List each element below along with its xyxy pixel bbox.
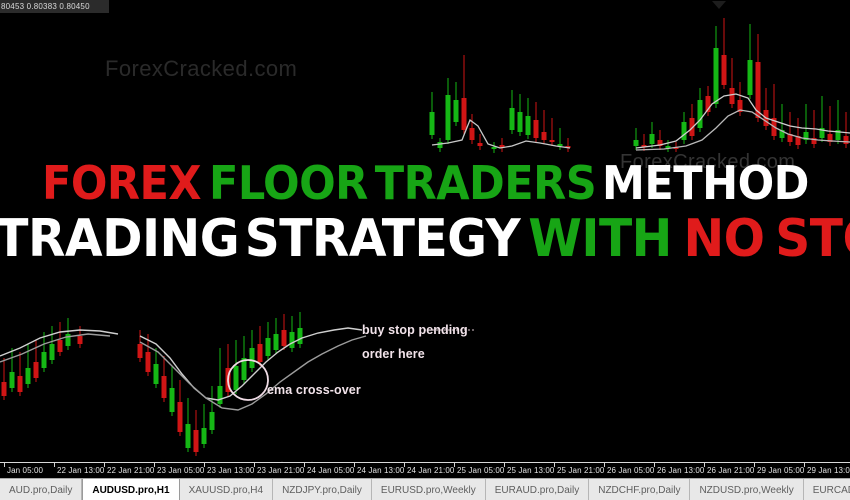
price-quote-strip: 80453 0.80383 0.80450	[0, 0, 109, 13]
chart-tab-nzdusd-pro-weekly[interactable]: NZDUSD.pro,Weekly	[690, 479, 803, 500]
time-axis-label: 29 Jan 13:00	[807, 466, 850, 475]
time-axis-label: 25 Jan 13:00	[507, 466, 554, 475]
time-axis-tick	[604, 463, 605, 467]
candle-body	[218, 386, 223, 404]
annotation-order-here: order here	[362, 347, 425, 361]
time-axis-label: 24 Jan 05:00	[307, 466, 354, 475]
candle-body	[438, 142, 443, 148]
headline-line-1: FOREX FLOOR TRADERS METHOD	[0, 160, 850, 206]
candle-body	[454, 100, 459, 122]
time-axis-tick	[104, 463, 105, 467]
time-axis-tick	[204, 463, 205, 467]
candle-body	[430, 112, 435, 135]
candle-body	[730, 88, 735, 104]
candle-body	[682, 122, 687, 140]
candle-body	[202, 428, 207, 444]
time-axis-tick	[504, 463, 505, 467]
chart-tab-bar[interactable]: AUD.pro,DailyAUDUSD.pro,H1XAUUSD.pro,H4N…	[0, 478, 850, 500]
time-axis-label: Jan 05:00	[7, 466, 43, 475]
time-axis-label: 23 Jan 21:00	[257, 466, 304, 475]
time-axis-label: 25 Jan 05:00	[457, 466, 504, 475]
time-axis-tick	[404, 463, 405, 467]
candle-body	[282, 330, 287, 346]
mt4-chart-screenshot: 80453 0.80383 0.80450 ForexCracked.com F…	[0, 0, 850, 500]
headline-word-forex: FOREX	[42, 160, 201, 206]
time-axis-tick	[554, 463, 555, 467]
time-axis-label: 23 Jan 13:00	[207, 466, 254, 475]
upper-ma-line-1	[432, 120, 570, 148]
candle-body	[446, 95, 451, 140]
candle-body	[298, 328, 303, 344]
time-axis-tick	[4, 463, 5, 467]
candle-body	[274, 334, 279, 350]
candle-body	[42, 352, 47, 368]
headline-overlay: FOREX FLOOR TRADERS METHOD TRADING STRAT…	[0, 160, 850, 265]
time-axis-tick	[254, 463, 255, 467]
time-axis[interactable]: Jan 05:0022 Jan 13:0022 Jan 21:0023 Jan …	[0, 462, 850, 479]
time-axis-label: 29 Jan 05:00	[757, 466, 804, 475]
headline-word-trading: TRADING	[0, 213, 239, 265]
chart-tab-eurcad-pro-h1[interactable]: EURCAD.pro,H1	[804, 479, 850, 500]
annotation-buy-stop: buy stop pending	[362, 323, 468, 337]
time-axis-tick	[154, 463, 155, 467]
candle-body	[650, 134, 655, 144]
candle-body	[138, 344, 143, 358]
candle-body	[518, 112, 523, 132]
candle-body	[510, 108, 515, 130]
chart-tab-aud-pro-daily[interactable]: AUD.pro,Daily	[0, 479, 82, 500]
candle-body	[470, 128, 475, 140]
time-axis-label: 24 Jan 21:00	[407, 466, 454, 475]
headline-word-floor: FLOOR	[209, 160, 368, 206]
candle-body	[748, 60, 753, 95]
time-axis-tick	[804, 463, 805, 467]
time-axis-tick	[304, 463, 305, 467]
candle-body	[844, 136, 849, 144]
candle-body	[526, 116, 531, 135]
candle-body	[50, 344, 55, 360]
candle-body	[714, 48, 719, 104]
candle-body	[18, 376, 23, 392]
time-axis-label: 25 Jan 21:00	[557, 466, 604, 475]
time-axis-label: 26 Jan 21:00	[707, 466, 754, 475]
down-arrow-marker	[712, 1, 726, 9]
headline-word-method: METHOD	[602, 160, 809, 206]
candle-body	[146, 352, 151, 372]
chart-tab-audusd-pro-h1[interactable]: AUDUSD.pro,H1	[82, 479, 179, 500]
candle-body	[258, 344, 263, 362]
headline-word-with: WITH	[528, 213, 672, 265]
annotation-ema-crossover: ema cross-over	[267, 383, 361, 397]
candle-body	[534, 120, 539, 138]
time-axis-label: 22 Jan 21:00	[107, 466, 154, 475]
candle-body	[234, 366, 239, 390]
candle-body	[266, 338, 271, 356]
candle-body	[34, 362, 39, 378]
time-axis-label: 26 Jan 05:00	[607, 466, 654, 475]
chart-tab-nzdjpy-pro-daily[interactable]: NZDJPY.pro,Daily	[273, 479, 372, 500]
candle-body	[542, 132, 547, 140]
candle-body	[478, 143, 483, 146]
headline-word-strategy: STRATEGY	[245, 213, 520, 265]
time-axis-label: 24 Jan 13:00	[357, 466, 404, 475]
chart-tab-xauusd-pro-h4[interactable]: XAUUSD.pro,H4	[180, 479, 273, 500]
candle-body	[186, 424, 191, 448]
chart-tab-eurusd-pro-weekly[interactable]: EURUSD.pro,Weekly	[372, 479, 486, 500]
candle-body	[634, 140, 639, 146]
headline-word-stop: STOP	[776, 213, 850, 265]
candle-body	[170, 388, 175, 412]
candle-body	[210, 412, 215, 430]
candle-body	[78, 336, 83, 344]
candle-body	[154, 364, 159, 384]
candle-body	[178, 402, 183, 432]
chart-tab-nzdchf-pro-daily[interactable]: NZDCHF.pro,Daily	[589, 479, 690, 500]
candle-body	[10, 372, 15, 388]
candle-body	[462, 98, 467, 130]
time-axis-tick	[454, 463, 455, 467]
lower-ema-slow-line	[0, 334, 366, 410]
candle-body	[26, 368, 31, 384]
candle-body	[194, 430, 199, 452]
headline-word-traders: TRADERS	[375, 160, 596, 206]
time-axis-label: 22 Jan 13:00	[57, 466, 104, 475]
candle-body	[250, 348, 255, 368]
candle-body	[2, 382, 7, 396]
time-axis-tick	[354, 463, 355, 467]
time-axis-label: 23 Jan 05:00	[157, 466, 204, 475]
candle-body	[290, 332, 295, 348]
chart-tab-euraud-pro-daily[interactable]: EURAUD.pro,Daily	[486, 479, 589, 500]
lower-candles-group	[2, 312, 303, 456]
candle-body	[492, 147, 497, 149]
candle-body	[162, 376, 167, 398]
time-axis-tick	[704, 463, 705, 467]
candle-body	[698, 100, 703, 128]
headline-line-2: TRADING STRATEGY WITH NO STOP LOSS	[0, 213, 850, 265]
candle-body	[722, 55, 727, 85]
candle-body	[58, 340, 63, 352]
headline-word-no: NO	[683, 213, 764, 265]
time-axis-tick	[54, 463, 55, 467]
time-axis-label: 26 Jan 13:00	[657, 466, 704, 475]
time-axis-tick	[654, 463, 655, 467]
time-axis-tick	[754, 463, 755, 467]
candle-body	[550, 140, 555, 142]
